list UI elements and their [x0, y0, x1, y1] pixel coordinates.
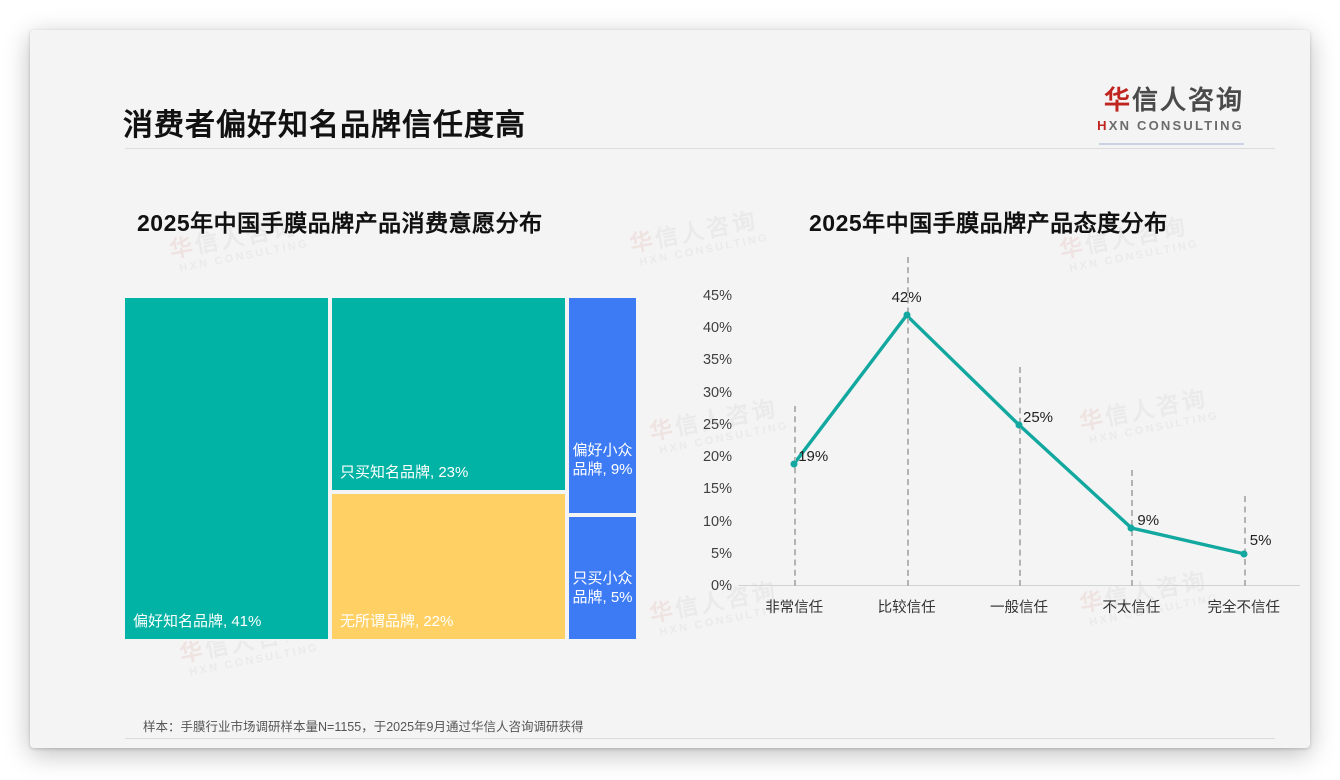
data-point[interactable]	[1240, 550, 1247, 557]
watermark-cn: 华信人咨询	[628, 207, 768, 256]
y-axis-tick: 40%	[703, 320, 732, 336]
line-chart-plot: 19%42%25%9%5%	[738, 296, 1300, 586]
x-axis-tick: 完全不信任	[1208, 596, 1281, 617]
gridline-dashed	[794, 406, 796, 586]
y-axis-tick: 0%	[711, 578, 732, 594]
slide-card: 华信人咨询 HXN CONSULTING 华信人咨询 HXN CONSULTIN…	[30, 30, 1310, 748]
treemap-tile-label: 偏好知名品牌, 41%	[133, 613, 322, 632]
treemap-tile-no-brand-preference[interactable]: 无所谓品牌, 22%	[330, 492, 567, 641]
treemap-tile-label: 只买小众品牌, 5%	[569, 570, 636, 608]
watermark-en: HXN CONSULTING	[1068, 238, 1200, 275]
x-axis-tick: 非常信任	[765, 596, 823, 617]
watermark: 华信人咨询 HXN CONSULTING	[628, 207, 770, 270]
treemap-tile-only-niche[interactable]: 只买小众品牌, 5%	[567, 515, 638, 641]
logo-english: HXN CONSULTING	[1097, 118, 1244, 133]
treemap-tile-label: 偏好小众品牌, 9%	[569, 442, 636, 480]
y-axis-tick: 10%	[703, 514, 732, 530]
line-chart: 0%5%10%15%20%25%30%35%40%45% 19%42%25%9%…	[680, 296, 1300, 626]
gridline-dashed	[1019, 367, 1021, 586]
y-axis-labels: 0%5%10%15%20%25%30%35%40%45%	[680, 296, 732, 586]
y-axis-tick: 35%	[703, 352, 732, 368]
gridline-dashed	[907, 257, 909, 586]
data-point-label: 19%	[798, 448, 828, 465]
treemap-tile-only-famous[interactable]: 只买知名品牌, 23%	[330, 296, 567, 492]
y-axis-tick: 15%	[703, 481, 732, 497]
data-point-label: 42%	[892, 289, 922, 306]
data-point-label: 9%	[1137, 512, 1159, 529]
x-axis-tick: 一般信任	[990, 596, 1048, 617]
y-axis-tick: 20%	[703, 449, 732, 465]
footer-divider	[125, 738, 1275, 739]
watermark-en: HXN CONSULTING	[188, 642, 320, 679]
header-divider	[125, 148, 1275, 149]
y-axis-tick: 45%	[703, 288, 732, 304]
data-point[interactable]	[1016, 421, 1023, 428]
treemap-tile-prefer-famous[interactable]: 偏好知名品牌, 41%	[123, 296, 330, 641]
page-title: 消费者偏好知名品牌信任度高	[123, 100, 526, 144]
y-axis-tick: 30%	[703, 385, 732, 401]
watermark-en: HXN CONSULTING	[178, 238, 310, 275]
treemap-tile-prefer-niche[interactable]: 偏好小众品牌, 9%	[567, 296, 638, 515]
treemap-tile-label: 只买知名品牌, 23%	[340, 464, 559, 483]
treemap-chart: 偏好知名品牌, 41% 只买知名品牌, 23% 无所谓品牌, 22% 偏好小众品…	[123, 296, 638, 641]
x-axis-labels: 非常信任比较信任一般信任不太信任完全不信任	[738, 596, 1300, 622]
brand-logo: 华信人咨询 HXN CONSULTING	[1097, 86, 1244, 133]
logo-chinese: 华信人咨询	[1097, 86, 1244, 115]
left-chart-title: 2025年中国手膜品牌产品消费意愿分布	[137, 204, 543, 238]
data-point[interactable]	[1128, 525, 1135, 532]
footnote: 样本：手膜行业市场调研样本量N=1155，于2025年9月通过华信人咨询调研获得	[143, 716, 583, 735]
x-axis-tick: 比较信任	[878, 596, 936, 617]
data-point-label: 25%	[1023, 409, 1053, 426]
watermark-en: HXN CONSULTING	[638, 232, 770, 269]
data-point[interactable]	[791, 460, 798, 467]
x-axis-tick: 不太信任	[1102, 596, 1160, 617]
gridline-dashed	[1244, 496, 1246, 586]
y-axis-tick: 5%	[711, 546, 732, 562]
data-point[interactable]	[903, 312, 910, 319]
treemap-tile-label: 无所谓品牌, 22%	[340, 613, 559, 632]
right-chart-title: 2025年中国手膜品牌产品态度分布	[809, 204, 1168, 238]
data-point-label: 5%	[1250, 532, 1272, 549]
y-axis-tick: 25%	[703, 417, 732, 433]
logo-underline	[1099, 143, 1244, 145]
